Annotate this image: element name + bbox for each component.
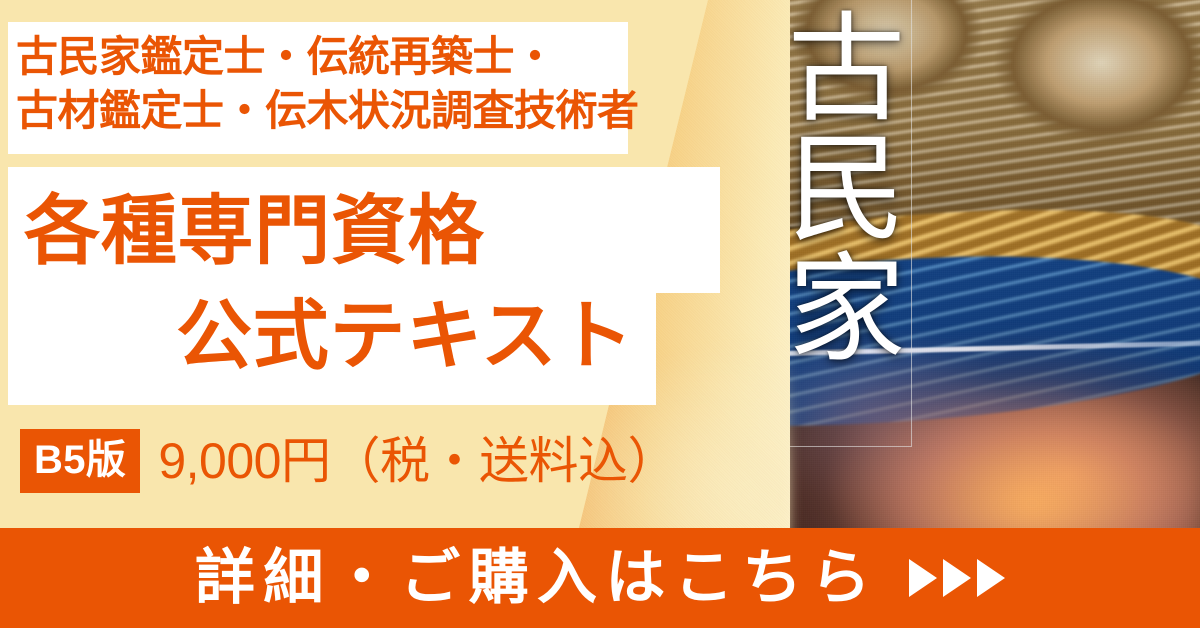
headline-line-2: 公式テキスト [0,285,720,390]
purchase-cta-button[interactable]: 詳細・ご購入はこちら [0,528,1200,628]
price-amount: 9,000円（税・送料込） [158,436,677,486]
promo-banner: 古民家 伝統構法、古民家活用のための調査と再生の 古民家鑑定士・伝統再築士・ 古… [0,0,1200,628]
page-title: 各種専門資格 公式テキスト [0,180,720,390]
chevron-right-icon [909,559,937,597]
chevron-right-icon [977,559,1005,597]
format-badge: B5版 [20,429,140,493]
subtitle-line-2: 古材鑑定士・伝木状況調査技術者 [16,84,716,138]
cta-arrows [909,559,1005,597]
subtitle-line-1: 古民家鑑定士・伝統再築士・ [16,30,716,84]
price-row: B5版 9,000円（税・送料込） [20,429,677,493]
chevron-right-icon [943,559,971,597]
qualifications-subtitle: 古民家鑑定士・伝統再築士・ 古材鑑定士・伝木状況調査技術者 [16,30,716,138]
headline-line-1: 各種専門資格 [0,180,720,285]
cta-label: 詳細・ご購入はこちら [195,548,879,608]
